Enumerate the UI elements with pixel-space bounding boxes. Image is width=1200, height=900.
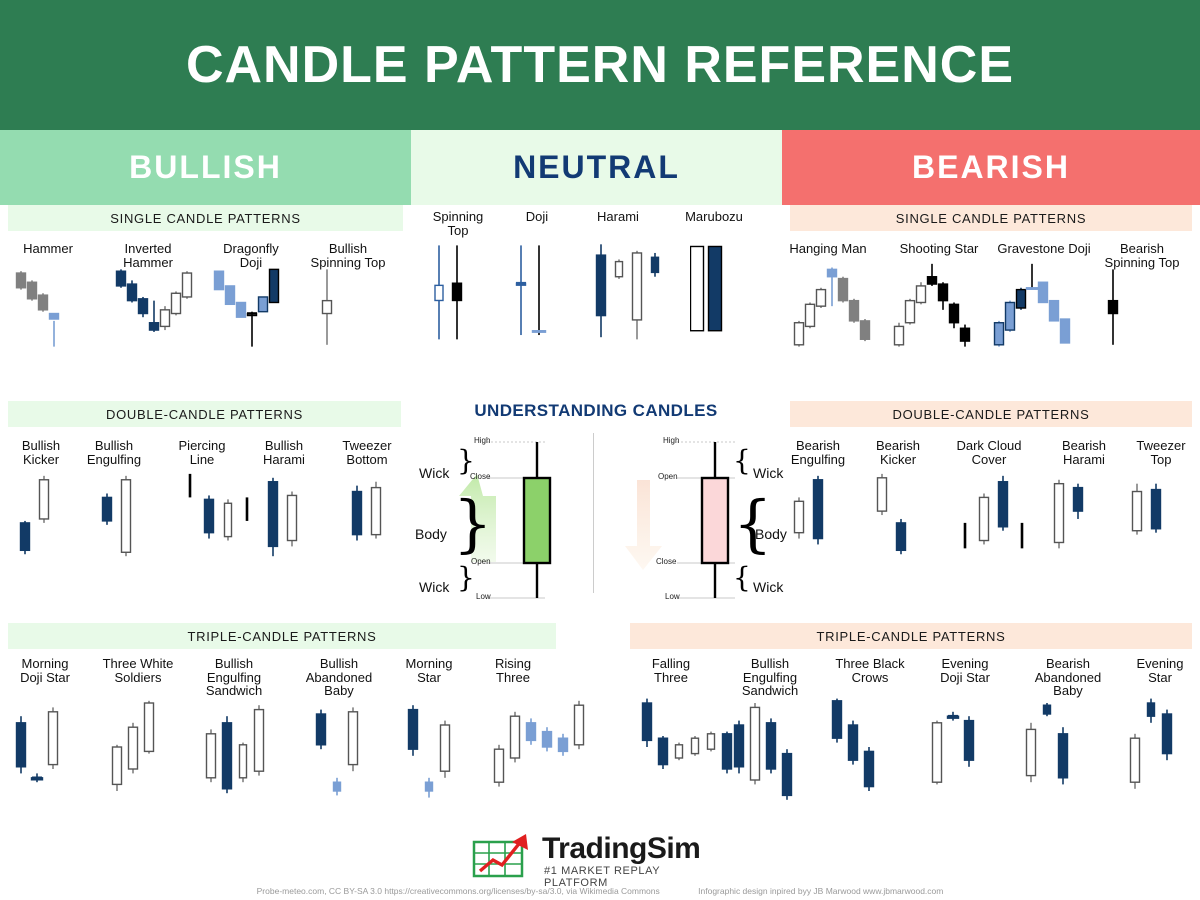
chart-arrow-icon (470, 834, 536, 880)
pattern-chart-bullish-kicker (18, 468, 70, 566)
pattern-label-piercing-line: Piercing Line (158, 439, 246, 466)
category-label-bullish: BULLISH (129, 149, 282, 186)
category-band-neutral: NEUTRAL (411, 130, 782, 205)
pattern-label-morning-star: Morning Star (388, 657, 470, 684)
brace-body-bearish: { (733, 493, 772, 555)
section-header-bullish-single: SINGLE CANDLE PATTERNS (8, 205, 403, 231)
section-header-bullish-triple: TRIPLE-CANDLE PATTERNS (8, 623, 556, 649)
pattern-label-dark-cloud-cover: Dark Cloud Cover (938, 439, 1040, 466)
pattern-chart-harami (594, 240, 680, 348)
pattern-chart-dark-cloud-cover (958, 468, 1048, 566)
pattern-chart-three-black-crows (830, 692, 892, 802)
pattern-chart-bearish-harami (1052, 468, 1104, 566)
brace-wick-top-bullish: } (457, 447, 475, 475)
credit-left: Probe-meteo.com, CC BY-SA 3.0 https://cr… (257, 886, 660, 896)
pattern-label-bearish-harami: Bearish Harami (1042, 439, 1126, 466)
label-open-bearish: Open (658, 472, 678, 481)
category-band-bearish: BEARISH (782, 130, 1200, 205)
pattern-chart-spinning-top (432, 240, 482, 348)
pattern-label-bearish-engulfing: Bearish Engulfing (774, 439, 862, 466)
pattern-chart-doji (514, 240, 564, 348)
understanding-candles-diagram: High Close Open Low Wick Body Wick } } } (415, 425, 785, 610)
title-bar: CANDLE PATTERN REFERENCE (0, 0, 1200, 130)
brace-wick-bottom-bearish: { (733, 564, 751, 592)
pattern-chart-tweezer-top (1130, 468, 1182, 566)
brace-body-bullish: } (453, 493, 492, 555)
tradingsim-logo[interactable]: TradingSim #1 MARKET REPLAY PLATFORM (470, 832, 720, 884)
pattern-chart-bearish-engulfing (792, 468, 844, 566)
pattern-chart-bullish-engulfing-sandwich (732, 692, 810, 802)
pattern-chart-inverted-hammer (114, 262, 205, 354)
label-low-bullish: Low (476, 592, 491, 601)
pattern-chart-bullish-abandoned-baby (314, 692, 376, 802)
section-header-bullish-double: DOUBLE-CANDLE PATTERNS (8, 401, 401, 427)
pattern-chart-bearish-spinning-top (1106, 262, 1131, 354)
diagram-divider (593, 433, 594, 593)
pattern-label-evening-star: Evening Star (1122, 657, 1198, 684)
pattern-chart-bullish-engulfing (100, 468, 152, 566)
pattern-chart-bullish-spinning-top (320, 262, 345, 354)
pattern-label-rising-three: Rising Three (476, 657, 550, 684)
pattern-chart-tweezer-bottom (350, 468, 402, 566)
pattern-chart-gravestone-doji (992, 262, 1083, 354)
pattern-label-morning-doji-star: Morning Doji Star (0, 657, 90, 684)
pattern-label-bullish-spinning-top: Bullish Spinning Top (293, 242, 403, 269)
pattern-chart-evening-doji-star (930, 692, 992, 802)
pattern-label-hanging-man: Hanging Man (770, 242, 886, 256)
pattern-label-tweezer-bottom: Tweezer Bottom (324, 439, 410, 466)
credit-right: Infographic design inpired byy JB Marwoo… (698, 886, 943, 896)
pattern-label-falling-three: Falling Three (630, 657, 712, 684)
pattern-chart-bullish-harami (266, 468, 318, 566)
category-label-neutral: NEUTRAL (513, 149, 680, 186)
page-title: CANDLE PATTERN REFERENCE (186, 35, 1014, 95)
label-high-bullish: High (474, 436, 490, 445)
brace-wick-top-bearish: { (733, 447, 751, 475)
section-header-understanding-candles: UNDERSTANDING CANDLES (412, 398, 780, 424)
category-label-bearish: BEARISH (912, 149, 1070, 186)
section-header-bearish-triple: TRIPLE-CANDLE PATTERNS (630, 623, 1192, 649)
annotation-wick-bottom-bullish: Wick (419, 579, 449, 595)
pattern-label-gravestone-doji: Gravestone Doji (980, 242, 1108, 256)
pattern-chart-bullish-engulfing-sandwich (204, 692, 282, 802)
annotation-body-bullish: Body (415, 526, 447, 542)
category-band-bullish: BULLISH (0, 130, 411, 205)
label-low-bearish: Low (665, 592, 680, 601)
credits-line: Probe-meteo.com, CC BY-SA 3.0 https://cr… (0, 886, 1200, 896)
pattern-label-marubozu: Marubozu (668, 210, 760, 224)
pattern-chart-piercing-line (183, 468, 273, 566)
pattern-label-bullish-engulfing: Bullish Engulfing (70, 439, 158, 466)
pattern-label-evening-doji-star: Evening Doji Star (922, 657, 1008, 684)
pattern-chart-morning-star (406, 692, 468, 802)
annotation-wick-top-bearish: Wick (753, 465, 783, 481)
pattern-chart-hanging-man (792, 262, 883, 354)
label-high-bearish: High (663, 436, 679, 445)
label-close-bearish: Close (656, 557, 676, 566)
annotation-wick-top-bullish: Wick (419, 465, 449, 481)
pattern-chart-bearish-kicker (875, 468, 927, 566)
pattern-chart-evening-star (1128, 692, 1190, 802)
pattern-chart-morning-doji-star (14, 692, 76, 802)
brace-wick-bottom-bullish: } (457, 564, 475, 592)
annotation-wick-bottom-bearish: Wick (753, 579, 783, 595)
section-header-bearish-double: DOUBLE-CANDLE PATTERNS (790, 401, 1192, 427)
pattern-label-tweezer-top: Tweezer Top (1126, 439, 1196, 466)
logo-wordmark: TradingSim (542, 832, 700, 866)
pattern-label-bullish-harami: Bullish Harami (242, 439, 326, 466)
pattern-label-hammer: Hammer (0, 242, 96, 256)
pattern-label-three-white-soldiers: Three White Soldiers (86, 657, 190, 684)
pattern-label-spinning-top: Spinning Top (418, 210, 498, 237)
section-header-bearish-single: SINGLE CANDLE PATTERNS (790, 205, 1192, 231)
pattern-chart-marubozu (690, 240, 740, 348)
pattern-chart-shooting-star (892, 262, 983, 354)
pattern-label-bearish-kicker: Bearish Kicker (856, 439, 940, 466)
pattern-chart-dragonfly-doji (212, 262, 292, 354)
pattern-label-doji: Doji (500, 210, 574, 224)
pattern-label-harami: Harami (578, 210, 658, 224)
pattern-chart-bearish-abandoned-baby (1024, 692, 1086, 802)
pattern-chart-rising-three (492, 692, 602, 802)
infographic-page: CANDLE PATTERN REFERENCE BULLISH NEUTRAL… (0, 0, 1200, 900)
pattern-label-three-black-crows: Three Black Crows (822, 657, 918, 684)
pattern-chart-three-white-soldiers (110, 692, 172, 802)
pattern-chart-hammer (14, 262, 72, 354)
